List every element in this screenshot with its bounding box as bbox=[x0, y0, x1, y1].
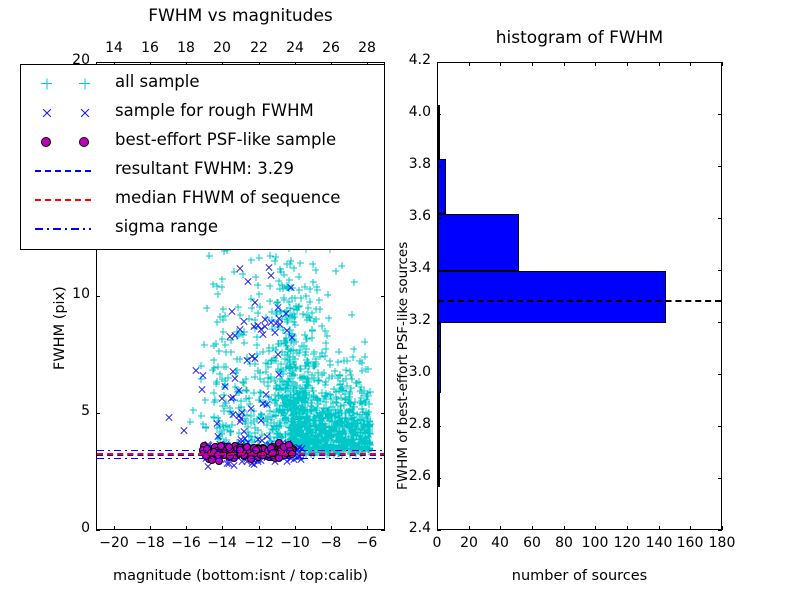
histogram-bar bbox=[438, 271, 666, 323]
scatter-point-all-sample bbox=[256, 291, 263, 298]
scatter-point-all-sample bbox=[361, 353, 368, 360]
circle-marker bbox=[79, 137, 89, 147]
legend-item: resultant FWHM: 3.29 bbox=[21, 156, 384, 185]
scatter-point-all-sample bbox=[349, 441, 356, 448]
scatter-point-all-sample bbox=[283, 261, 290, 268]
scatter-point-all-sample bbox=[295, 304, 302, 311]
scatter-point-all-sample bbox=[338, 262, 345, 269]
scatter-point-all-sample bbox=[279, 409, 286, 416]
scatter-point-all-sample bbox=[348, 385, 355, 392]
scatter-point-all-sample bbox=[324, 332, 331, 339]
scatter-point-all-sample bbox=[292, 402, 299, 409]
reference-line-median-fhwm-of-sequence bbox=[97, 453, 384, 455]
scatter-point-all-sample bbox=[316, 306, 323, 313]
histogram-bar bbox=[438, 323, 441, 346]
scatter-point-rough-fwhm bbox=[180, 426, 189, 435]
scatter-point-all-sample bbox=[359, 367, 366, 374]
axis-tick bbox=[469, 526, 470, 530]
axis-tick bbox=[500, 62, 501, 66]
scatter-point-all-sample bbox=[202, 397, 209, 404]
scatter-point-all-sample bbox=[297, 393, 304, 400]
scatter-point-all-sample bbox=[198, 412, 205, 419]
legend-box: all samplesample for rough FWHMbest-effo… bbox=[20, 64, 385, 250]
axis-tick bbox=[718, 270, 722, 271]
reference-line-sigma-range-upper bbox=[97, 450, 384, 452]
scatter-point-all-sample bbox=[326, 407, 333, 414]
scatter-point-rough-fwhm bbox=[261, 390, 270, 399]
scatter-point-all-sample bbox=[301, 342, 308, 349]
axis-tick bbox=[437, 530, 441, 531]
axis-tick bbox=[718, 166, 722, 167]
scatter-point-all-sample bbox=[311, 435, 318, 442]
scatter-point-all-sample bbox=[190, 407, 197, 414]
scatter-point-rough-fwhm bbox=[236, 264, 245, 273]
scatter-point-all-sample bbox=[227, 429, 234, 436]
scatter-point-all-sample bbox=[227, 349, 234, 356]
tick-label: 180 bbox=[702, 535, 742, 551]
scatter-point-all-sample bbox=[347, 427, 354, 434]
axis-tick bbox=[367, 526, 368, 530]
scatter-point-rough-fwhm bbox=[238, 408, 247, 417]
scatter-point-rough-fwhm bbox=[275, 320, 284, 329]
scatter-point-all-sample bbox=[346, 391, 353, 398]
left-panel-xlabel: magnitude (bottom:isnt / top:calib) bbox=[96, 568, 385, 584]
plus-marker bbox=[41, 78, 52, 89]
scatter-point-all-sample bbox=[209, 367, 216, 374]
legend-item: all sample bbox=[21, 69, 384, 98]
scatter-point-rough-fwhm bbox=[240, 317, 249, 326]
legend-item: sigma range bbox=[21, 214, 384, 243]
scatter-point-rough-fwhm bbox=[273, 350, 282, 359]
axis-tick bbox=[469, 62, 470, 66]
scatter-point-all-sample bbox=[266, 283, 273, 290]
scatter-point-all-sample bbox=[219, 276, 226, 283]
scatter-point-all-sample bbox=[303, 311, 310, 318]
scatter-point-all-sample bbox=[289, 295, 296, 302]
scatter-point-rough-fwhm bbox=[256, 416, 265, 425]
tick-label: 28 bbox=[345, 40, 389, 56]
scatter-point-all-sample bbox=[202, 424, 209, 431]
scatter-point-all-sample bbox=[332, 394, 339, 401]
scatter-point-all-sample bbox=[214, 291, 221, 298]
scatter-point-rough-fwhm bbox=[246, 404, 255, 413]
scatter-point-all-sample bbox=[238, 398, 245, 405]
scatter-point-all-sample bbox=[295, 273, 302, 280]
scatter-point-all-sample bbox=[290, 265, 297, 272]
legend-item: sample for rough FWHM bbox=[21, 98, 384, 127]
axis-tick bbox=[437, 62, 441, 63]
scatter-point-all-sample bbox=[360, 408, 367, 415]
scatter-point-all-sample bbox=[275, 278, 282, 285]
legend-item: best-effort PSF-like sample bbox=[21, 127, 384, 156]
scatter-point-all-sample bbox=[210, 389, 217, 396]
scatter-point-all-sample bbox=[292, 356, 299, 363]
axis-tick bbox=[437, 374, 441, 375]
figure-canvas: FWHM vs magnitudes 1416182022242628 −20−… bbox=[0, 0, 800, 600]
legend-item-label: all sample bbox=[115, 72, 200, 91]
axis-tick bbox=[718, 114, 722, 115]
axis-tick bbox=[690, 62, 691, 66]
scatter-point-rough-fwhm bbox=[262, 400, 271, 409]
scatter-point-all-sample bbox=[318, 371, 325, 378]
scatter-point-all-sample bbox=[323, 414, 330, 421]
plus-marker bbox=[79, 78, 90, 89]
axis-tick bbox=[259, 526, 260, 530]
axis-tick bbox=[564, 526, 565, 530]
scatter-point-all-sample bbox=[280, 384, 287, 391]
axis-tick bbox=[532, 526, 533, 530]
scatter-point-all-sample bbox=[365, 366, 372, 373]
scatter-point-rough-fwhm bbox=[221, 382, 230, 391]
axis-tick bbox=[437, 114, 441, 115]
scatter-point-all-sample bbox=[346, 368, 353, 375]
axis-tick bbox=[295, 526, 296, 530]
axis-tick bbox=[532, 62, 533, 66]
scatter-point-all-sample bbox=[303, 293, 310, 300]
axis-tick bbox=[718, 374, 722, 375]
scatter-point-all-sample bbox=[350, 346, 357, 353]
scatter-point-all-sample bbox=[312, 267, 319, 274]
scatter-point-all-sample bbox=[359, 401, 366, 408]
scatter-point-all-sample bbox=[335, 348, 342, 355]
scatter-point-all-sample bbox=[351, 398, 358, 405]
scatter-point-all-sample bbox=[324, 291, 331, 298]
scatter-point-all-sample bbox=[293, 349, 300, 356]
scatter-point-all-sample bbox=[304, 335, 311, 342]
tick-label: 2.4 bbox=[385, 520, 431, 536]
scatter-point-all-sample bbox=[203, 305, 210, 312]
axis-tick bbox=[718, 530, 722, 531]
cross-marker bbox=[79, 107, 90, 118]
axis-tick bbox=[690, 526, 691, 530]
scatter-point-all-sample bbox=[276, 422, 283, 429]
tick-label: −6 bbox=[345, 535, 389, 551]
left-panel-ylabel: FWHM (pix) bbox=[52, 286, 68, 370]
axis-tick bbox=[595, 526, 596, 530]
dashdot-line bbox=[35, 228, 91, 230]
scatter-point-all-sample bbox=[220, 306, 227, 313]
scatter-point-rough-fwhm bbox=[254, 321, 263, 330]
legend-item-label: median FHWM of sequence bbox=[115, 188, 340, 207]
axis-tick bbox=[222, 526, 223, 530]
scatter-point-all-sample bbox=[290, 420, 297, 427]
scatter-point-all-sample bbox=[256, 254, 263, 261]
axis-tick bbox=[96, 413, 100, 414]
axis-tick bbox=[722, 526, 723, 530]
scatter-point-all-sample bbox=[301, 418, 308, 425]
scatter-point-all-sample bbox=[314, 378, 321, 385]
scatter-point-all-sample bbox=[316, 297, 323, 304]
axis-tick bbox=[96, 530, 100, 531]
scatter-point-all-sample bbox=[348, 311, 355, 318]
scatter-point-rough-fwhm bbox=[250, 298, 259, 307]
axis-tick bbox=[437, 322, 441, 323]
scatter-point-all-sample bbox=[290, 379, 297, 386]
legend-item-label: sigma range bbox=[115, 217, 218, 236]
axis-tick bbox=[437, 426, 441, 427]
scatter-point-all-sample bbox=[306, 363, 313, 370]
scatter-point-all-sample bbox=[248, 257, 255, 264]
scatter-point-all-sample bbox=[267, 413, 274, 420]
scatter-point-all-sample bbox=[297, 384, 304, 391]
axis-tick bbox=[437, 218, 441, 219]
scatter-point-rough-fwhm bbox=[228, 367, 237, 376]
scatter-point-rough-fwhm bbox=[198, 371, 207, 380]
tick-label: 4.0 bbox=[385, 104, 431, 120]
right-panel-title: histogram of FWHM bbox=[437, 28, 722, 48]
dashed-line bbox=[35, 170, 91, 172]
scatter-point-all-sample bbox=[287, 388, 294, 395]
scatter-point-all-sample bbox=[253, 342, 260, 349]
scatter-point-all-sample bbox=[367, 442, 374, 449]
scatter-point-all-sample bbox=[220, 316, 227, 323]
dashed-line bbox=[35, 199, 91, 201]
scatter-point-all-sample bbox=[322, 381, 329, 388]
axis-tick bbox=[437, 478, 441, 479]
scatter-point-all-sample bbox=[342, 375, 349, 382]
axis-tick bbox=[659, 62, 660, 66]
left-panel-title: FWHM vs magnitudes bbox=[96, 6, 385, 26]
scatter-point-all-sample bbox=[251, 373, 258, 380]
scatter-point-rough-fwhm bbox=[228, 307, 237, 316]
scatter-point-all-sample bbox=[311, 418, 318, 425]
scatter-point-all-sample bbox=[210, 342, 217, 349]
axis-tick bbox=[627, 62, 628, 66]
histogram-bar bbox=[438, 440, 440, 487]
scatter-point-all-sample bbox=[290, 428, 297, 435]
scatter-point-all-sample bbox=[322, 340, 329, 347]
tick-label: 3.8 bbox=[385, 156, 431, 172]
scatter-point-all-sample bbox=[213, 283, 220, 290]
scatter-point-all-sample bbox=[351, 279, 358, 286]
scatter-point-all-sample bbox=[312, 359, 319, 366]
scatter-point-rough-fwhm bbox=[244, 277, 253, 286]
scatter-point-all-sample bbox=[297, 260, 304, 267]
scatter-point-all-sample bbox=[335, 423, 342, 430]
scatter-point-all-sample bbox=[358, 439, 365, 446]
tick-label: 3.6 bbox=[385, 208, 431, 224]
axis-tick bbox=[186, 526, 187, 530]
scatter-point-rough-fwhm bbox=[231, 331, 240, 340]
scatter-point-all-sample bbox=[201, 341, 208, 348]
axis-tick bbox=[96, 62, 100, 63]
scatter-point-rough-fwhm bbox=[235, 386, 244, 395]
axis-tick bbox=[437, 270, 441, 271]
scatter-point-all-sample bbox=[262, 368, 269, 375]
axis-tick bbox=[381, 296, 385, 297]
scatter-point-all-sample bbox=[262, 359, 269, 366]
scatter-point-rough-fwhm bbox=[288, 333, 297, 342]
scatter-point-rough-fwhm bbox=[227, 394, 236, 403]
scatter-point-rough-fwhm bbox=[164, 413, 173, 422]
scatter-point-rough-fwhm bbox=[213, 419, 222, 428]
scatter-point-all-sample bbox=[278, 394, 285, 401]
scatter-point-rough-fwhm bbox=[217, 394, 226, 403]
tick-label: 0 bbox=[50, 520, 90, 536]
axis-tick bbox=[500, 526, 501, 530]
right-panel-xlabel: number of sources bbox=[437, 568, 722, 584]
scatter-point-rough-fwhm bbox=[198, 385, 207, 394]
legend-item-label: sample for rough FWHM bbox=[115, 101, 314, 120]
scatter-point-all-sample bbox=[251, 424, 258, 431]
reference-line-sigma-range-lower bbox=[97, 458, 384, 460]
histogram-bar bbox=[438, 346, 441, 393]
histogram-bar bbox=[438, 393, 440, 440]
axis-tick bbox=[718, 62, 722, 63]
scatter-point-all-sample bbox=[285, 345, 292, 352]
scatter-point-all-sample bbox=[252, 274, 259, 281]
scatter-point-rough-fwhm bbox=[286, 283, 295, 292]
legend-item: median FHWM of sequence bbox=[21, 185, 384, 214]
scatter-point-all-sample bbox=[280, 337, 287, 344]
scatter-point-all-sample bbox=[325, 315, 332, 322]
tick-label: 4.2 bbox=[385, 52, 431, 68]
legend-item-label: resultant FWHM: 3.29 bbox=[115, 159, 294, 178]
scatter-point-all-sample bbox=[323, 443, 330, 450]
scatter-point-all-sample bbox=[206, 252, 213, 259]
axis-tick bbox=[595, 62, 596, 66]
scatter-point-all-sample bbox=[310, 279, 317, 286]
axis-tick bbox=[722, 62, 723, 66]
scatter-point-all-sample bbox=[315, 396, 322, 403]
scatter-point-rough-fwhm bbox=[243, 356, 252, 365]
histogram-reference-line bbox=[438, 300, 721, 302]
scatter-point-all-sample bbox=[293, 411, 300, 418]
axis-tick bbox=[718, 322, 722, 323]
scatter-point-all-sample bbox=[266, 344, 273, 351]
scatter-point-all-sample bbox=[314, 287, 321, 294]
scatter-point-all-sample bbox=[254, 282, 261, 289]
scatter-point-rough-fwhm bbox=[229, 410, 238, 419]
scatter-point-all-sample bbox=[187, 418, 194, 425]
histogram-bar bbox=[438, 105, 440, 160]
axis-tick bbox=[718, 218, 722, 219]
axis-tick bbox=[659, 526, 660, 530]
scatter-point-all-sample bbox=[353, 417, 360, 424]
axis-tick bbox=[437, 166, 441, 167]
scatter-point-all-sample bbox=[310, 351, 317, 358]
scatter-point-rough-fwhm bbox=[265, 263, 274, 272]
scatter-point-all-sample bbox=[361, 338, 368, 345]
legend-item-label: best-effort PSF-like sample bbox=[115, 130, 336, 149]
scatter-point-all-sample bbox=[321, 427, 328, 434]
circle-marker bbox=[41, 137, 51, 147]
scatter-point-all-sample bbox=[357, 387, 364, 394]
axis-tick bbox=[627, 526, 628, 530]
axis-tick bbox=[150, 526, 151, 530]
axis-tick bbox=[331, 526, 332, 530]
axis-tick bbox=[564, 62, 565, 66]
cross-marker bbox=[41, 107, 52, 118]
scatter-point-all-sample bbox=[241, 339, 248, 346]
histogram-bar bbox=[438, 159, 446, 214]
scatter-point-all-sample bbox=[309, 326, 316, 333]
right-panel-plot-area bbox=[438, 63, 721, 529]
scatter-point-all-sample bbox=[343, 410, 350, 417]
scatter-point-all-sample bbox=[272, 253, 279, 260]
axis-tick bbox=[96, 296, 100, 297]
axis-tick bbox=[381, 413, 385, 414]
axis-tick bbox=[718, 478, 722, 479]
tick-label: 5 bbox=[50, 403, 90, 419]
scatter-point-all-sample bbox=[277, 266, 284, 273]
scatter-point-all-sample bbox=[243, 387, 250, 394]
scatter-point-all-sample bbox=[329, 373, 336, 380]
scatter-point-all-sample bbox=[366, 422, 373, 429]
histogram-bar bbox=[438, 214, 519, 271]
scatter-point-rough-fwhm bbox=[274, 370, 283, 379]
scatter-point-all-sample bbox=[365, 433, 372, 440]
axis-tick bbox=[114, 526, 115, 530]
axis-tick bbox=[718, 426, 722, 427]
scatter-point-all-sample bbox=[306, 428, 313, 435]
scatter-point-all-sample bbox=[266, 298, 273, 305]
right-panel-ylabel: FWHM of best-effort PSF-like sources bbox=[395, 242, 411, 490]
scatter-point-all-sample bbox=[335, 359, 342, 366]
scatter-point-rough-fwhm bbox=[270, 328, 279, 337]
scatter-point-rough-fwhm bbox=[267, 271, 276, 280]
